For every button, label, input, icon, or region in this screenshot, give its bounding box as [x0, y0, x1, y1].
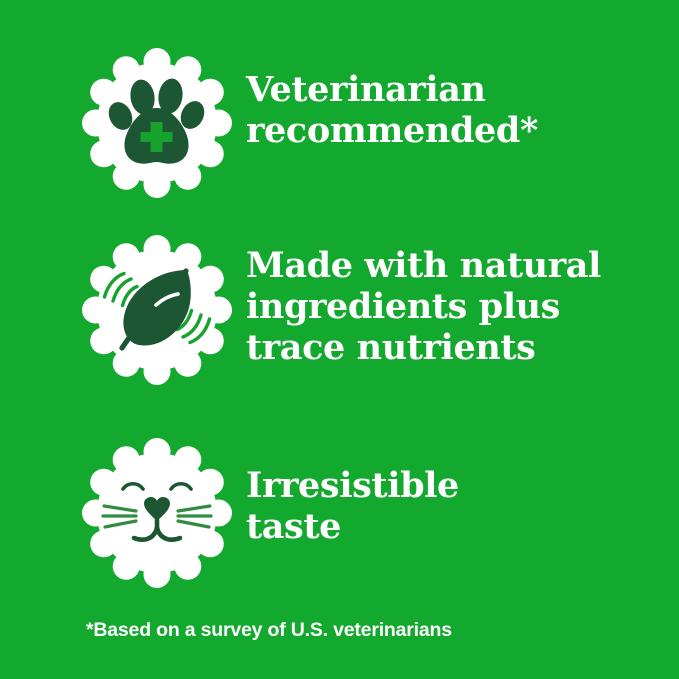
paw-with-cross-badge-icon — [82, 48, 232, 198]
feature-row: Irresistible taste — [0, 438, 679, 608]
feature-row: Made with natural ingredients plus trace… — [0, 235, 679, 405]
feature-row: Veterinarian recommended* — [0, 48, 679, 218]
footnote-text: *Based on a survey of U.S. veterinarians — [86, 618, 452, 642]
smiling-cat-face-badge-icon — [82, 438, 232, 588]
feature-label: Veterinarian recommended* — [246, 48, 538, 151]
promo-panel: Veterinarian recommended* — [0, 0, 679, 679]
feature-label: Irresistible taste — [246, 438, 459, 547]
leaf-with-motion-lines-badge-icon — [82, 235, 232, 385]
feature-label: Made with natural ingredients plus trace… — [246, 235, 601, 368]
